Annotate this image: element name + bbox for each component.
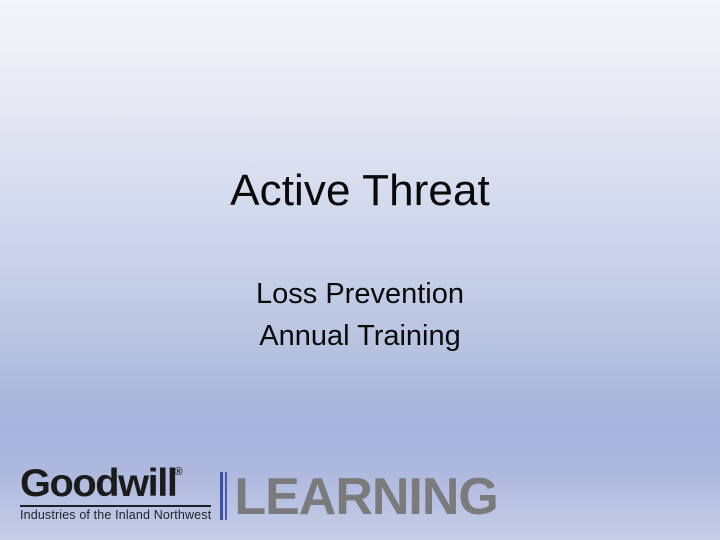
learning-wordmark-text: LEARNING xyxy=(234,475,498,521)
title-placeholder: Active Threat xyxy=(0,168,720,215)
presentation-slide: Active Threat Loss Prevention Annual Tra… xyxy=(0,0,720,540)
divider-bar-secondary xyxy=(225,472,227,520)
divider-bar-primary xyxy=(220,472,223,520)
logo-divider-bars xyxy=(220,472,227,520)
subtitle-line-2: Annual Training xyxy=(0,316,720,358)
footer-logo-lockup: Goodwill ® Industries of the Inland Nort… xyxy=(20,462,498,522)
goodwill-tagline-text: Industries of the Inland Northwest xyxy=(20,509,211,522)
goodwill-wordmark-text: Goodwill xyxy=(20,466,177,503)
subtitle-placeholder: Loss Prevention Annual Training xyxy=(0,274,720,358)
page-title: Active Threat xyxy=(0,168,720,215)
goodwill-wordmark-row: Goodwill ® xyxy=(20,466,211,503)
subtitle-line-1: Loss Prevention xyxy=(0,274,720,316)
goodwill-logo: Goodwill ® Industries of the Inland Nort… xyxy=(20,466,215,522)
